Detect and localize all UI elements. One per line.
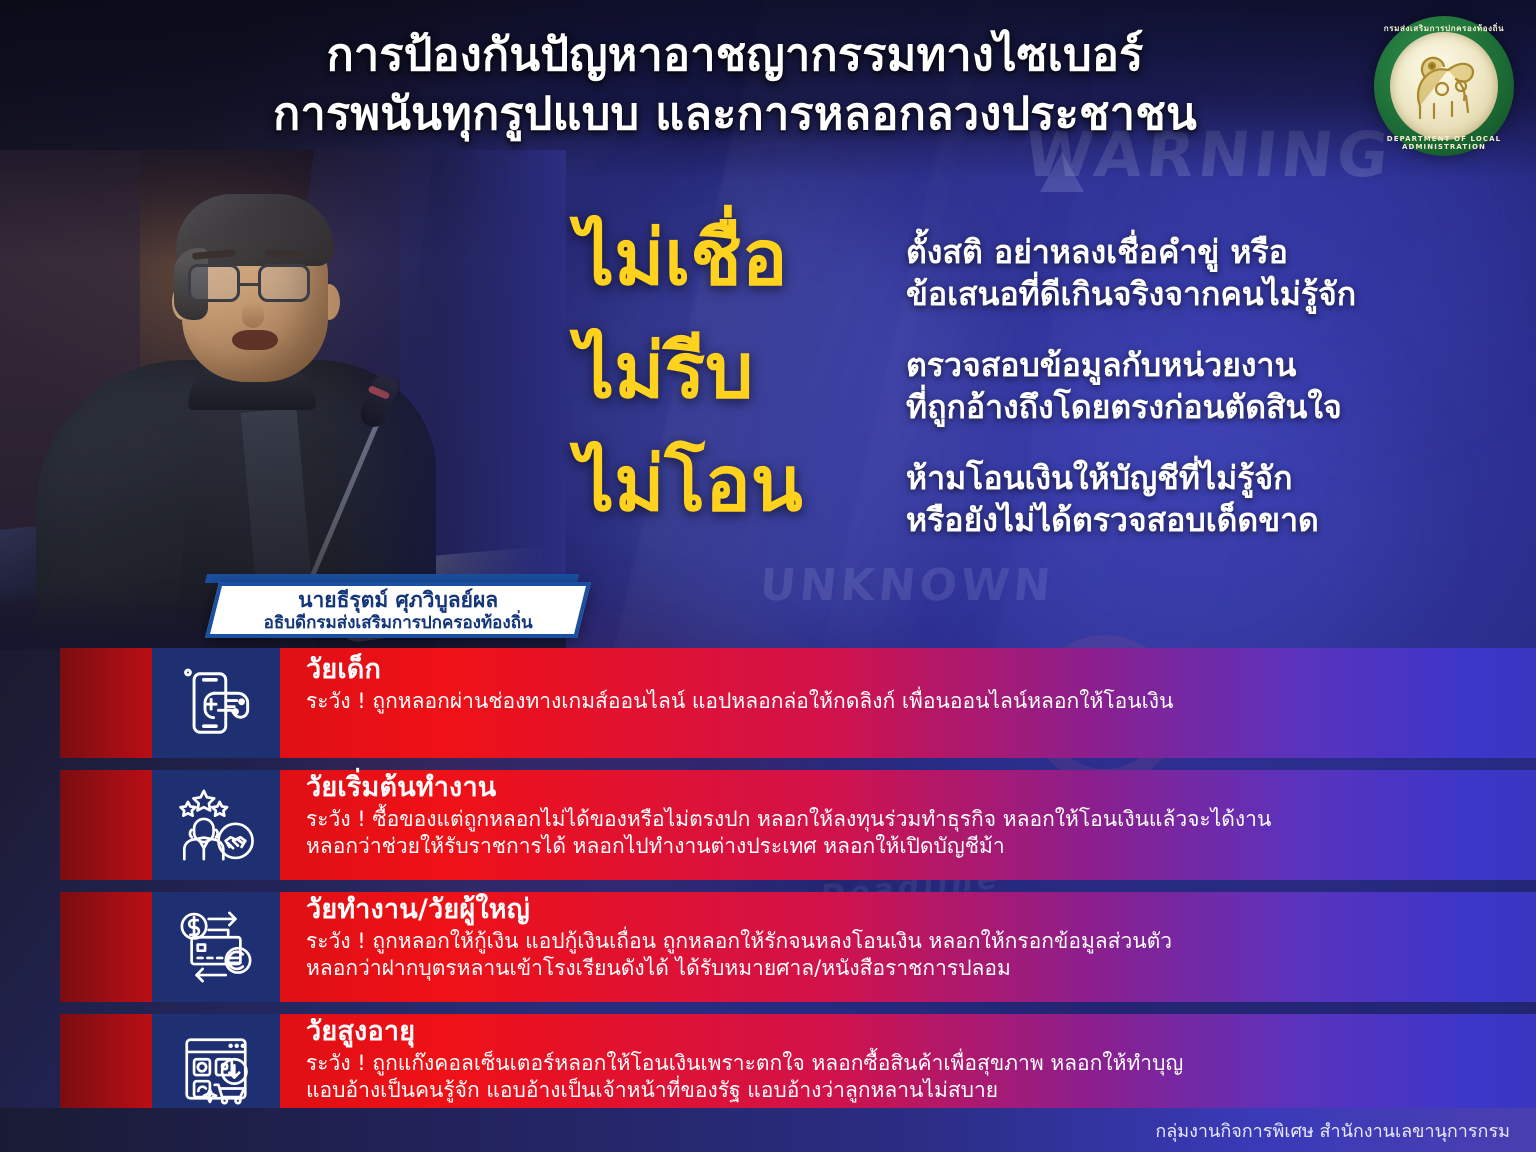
body-line-2: หลอกว่าช่วยให้รับราชการได้ หลอกไปทำงานต่… [306, 833, 1506, 860]
poster-root: WARNING UNKNOWN Deadline Accept [0, 0, 1536, 1152]
slogan-description: ตรวจสอบข้อมูลกับหน่วยงาน ที่ถูกอ้างถึงโด… [906, 331, 1526, 428]
title-line-2: การพนันทุกรูปแบบ และการหลอกลวงประชาชน [120, 85, 1350, 144]
age-group-row-working-adult: วัยทำงาน/วัยผู้ใหญ่ ระวัง ! ถูกหลอกให้กู… [0, 892, 1536, 1002]
slogan-keyword: ไม่เชื่อ [576, 218, 906, 299]
slogan-desc-line-1: ตรวจสอบข้อมูลกับหน่วยงาน [906, 345, 1526, 387]
footer-bar: กลุ่มงานกิจการพิเศษ สำนักงานเลขานุการกรม [0, 1108, 1536, 1152]
age-group-row-early-career: วัยเริ่มต้นทำงาน ระวัง ! ซื้อของแต่ถูกหล… [0, 770, 1536, 880]
page-title: การป้องกันปัญหาอาชญากรรมทางไซเบอร์ การพน… [120, 26, 1350, 143]
title-line-1: การป้องกันปัญหาอาชญากรรมทางไซเบอร์ [120, 26, 1350, 85]
money-transfer-card-icon [152, 892, 280, 1002]
slogan-keyword: ไม่โอน [576, 444, 906, 525]
age-group-body: ระวัง ! ถูกแก๊งคอลเซ็นเตอร์หลอกให้โอนเงิ… [306, 1050, 1506, 1105]
lion-icon [1390, 32, 1498, 140]
footer-credit: กลุ่มงานกิจการพิเศษ สำนักงานเลขานุการกรม [1155, 1116, 1510, 1145]
age-group-list: วัยเด็ก ระวัง ! ถูกหลอกผ่านช่องทางเกมส์อ… [0, 648, 1536, 1136]
slogan-row: ไม่โอน ห้ามโอนเงินให้บัญชีที่ไม่รู้จัก ห… [576, 444, 1526, 541]
speaker-role: อธิบดีกรมส่งเสริมการปกครองท้องถิ่น [216, 613, 580, 633]
body-line-2: หลอกว่าฝากบุตรหลานเข้าโรงเรียนดังได้ ได้… [306, 955, 1506, 982]
phone-gamepad-icon [152, 648, 280, 758]
body-line-1: ระวัง ! ถูกแก๊งคอลเซ็นเตอร์หลอกให้โอนเงิ… [306, 1050, 1506, 1077]
slogan-keyword: ไม่รีบ [576, 331, 906, 412]
age-group-title: วัยสูงอายุ [306, 1016, 1506, 1049]
age-group-body: ระวัง ! ซื้อของแต่ถูกหลอกไม่ได้ของหรือไม… [306, 806, 1506, 861]
row-text: วัยทำงาน/วัยผู้ใหญ่ ระวัง ! ถูกหลอกให้กู… [306, 892, 1506, 1002]
slogan-desc-line-1: ตั้งสติ อย่าหลงเชื่อคำขู่ หรือ [906, 232, 1526, 274]
row-text: วัยเริ่มต้นทำงาน ระวัง ! ซื้อของแต่ถูกหล… [306, 770, 1506, 880]
slogan-block: ไม่เชื่อ ตั้งสติ อย่าหลงเชื่อคำขู่ หรือ … [576, 218, 1526, 558]
age-group-row-child: วัยเด็ก ระวัง ! ถูกหลอกผ่านช่องทางเกมส์อ… [0, 648, 1536, 758]
speaker-name: นายธีรุตม์ ศุภวิบูลย์ผล [216, 588, 580, 613]
body-line-2: แอบอ้างเป็นคนรู้จัก แอบอ้างเป็นเจ้าหน้าท… [306, 1077, 1506, 1104]
body-line-1: ระวัง ! ซื้อของแต่ถูกหลอกไม่ได้ของหรือไม… [306, 806, 1506, 833]
slogan-desc-line-2: ข้อเสนอที่ดีเกินจริงจากคนไม่รู้จัก [906, 274, 1526, 316]
person-stars-handshake-icon [152, 770, 280, 880]
watermark-unknown-text: UNKNOWN [758, 560, 1057, 611]
age-group-title: วัยทำงาน/วัยผู้ใหญ่ [306, 894, 1506, 927]
slogan-desc-line-2: ที่ถูกอ้างถึงโดยตรงก่อนตัดสินใจ [906, 387, 1526, 429]
age-group-title: วัยเด็ก [306, 654, 1506, 687]
slogan-desc-line-1: ห้ามโอนเงินให้บัญชีที่ไม่รู้จัก [906, 458, 1526, 500]
age-group-body: ระวัง ! ถูกหลอกผ่านช่องทางเกมส์ออนไลน์ แ… [306, 688, 1506, 715]
body-line-1: ระวัง ! ถูกหลอกให้กู้เงิน แอปกู้เงินเถื่… [306, 928, 1506, 955]
slogan-row: ไม่รีบ ตรวจสอบข้อมูลกับหน่วยงาน ที่ถูกอ้… [576, 331, 1526, 428]
slogan-description: ตั้งสติ อย่าหลงเชื่อคำขู่ หรือ ข้อเสนอที… [906, 218, 1526, 315]
age-group-title: วัยเริ่มต้นทำงาน [306, 772, 1506, 805]
seal-text-thai: กรมส่งเสริมการปกครองท้องถิ่น [1374, 22, 1514, 35]
slogan-description: ห้ามโอนเงินให้บัญชีที่ไม่รู้จัก หรือยังไ… [906, 444, 1526, 541]
speaker-nameplate: นายธีรุตม์ ศุภวิบูลย์ผล อธิบดีกรมส่งเสริ… [205, 582, 591, 638]
department-seal: กรมส่งเสริมการปกครองท้องถิ่น DEPARTMENT … [1374, 16, 1514, 156]
age-group-body: ระวัง ! ถูกหลอกให้กู้เงิน แอปกู้เงินเถื่… [306, 928, 1506, 983]
row-text: วัยเด็ก ระวัง ! ถูกหลอกผ่านช่องทางเกมส์อ… [306, 648, 1506, 758]
body-line-1: ระวัง ! ถูกหลอกผ่านช่องทางเกมส์ออนไลน์ แ… [306, 688, 1506, 715]
seal-text-english: DEPARTMENT OF LOCAL ADMINISTRATION [1374, 135, 1514, 151]
slogan-desc-line-2: หรือยังไม่ได้ตรวจสอบเด็ดขาด [906, 500, 1526, 542]
slogan-row: ไม่เชื่อ ตั้งสติ อย่าหลงเชื่อคำขู่ หรือ … [576, 218, 1526, 315]
